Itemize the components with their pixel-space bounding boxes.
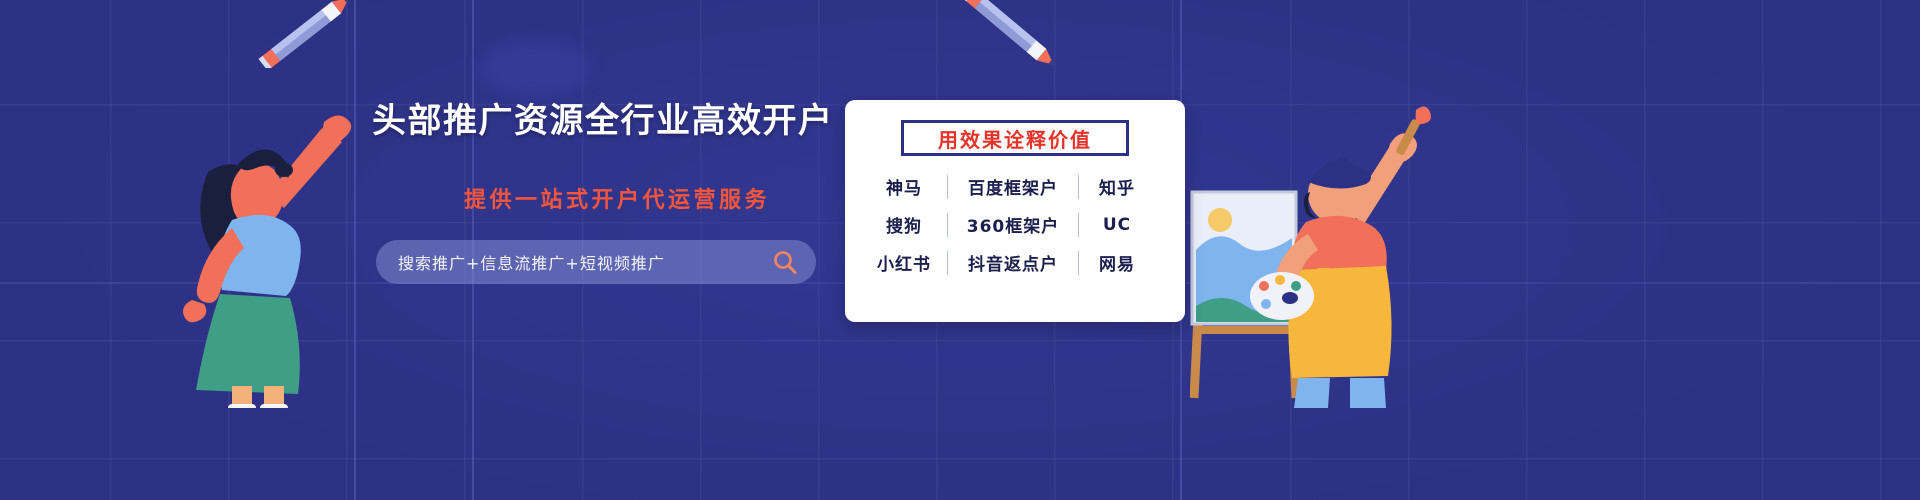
channel-item[interactable]: 360框架户: [967, 212, 1060, 237]
background-blob: [480, 40, 590, 96]
value-card: 用效果诠释价值 神马 百度框架户 知乎 搜狗 360框架户 UC 小红书 抖音返…: [845, 100, 1185, 322]
channel-item[interactable]: 知乎: [1099, 174, 1135, 199]
search-input[interactable]: 搜索推广+信息流推广+短视频推广: [376, 240, 816, 284]
grid-divider: [947, 213, 948, 237]
search-icon[interactable]: [772, 249, 798, 275]
woman-character-illustration: [172, 108, 372, 413]
card-badge-label: 用效果诠释价值: [938, 124, 1092, 153]
channel-item[interactable]: 搜狗: [886, 212, 922, 237]
grid-divider: [947, 175, 948, 199]
subtitle: 提供一站式开户代运营服务: [372, 182, 842, 214]
channel-item[interactable]: 小红书: [877, 250, 931, 275]
pencil-icon: [246, 0, 366, 73]
channel-item[interactable]: 神马: [886, 174, 922, 199]
grid-divider: [947, 251, 948, 275]
pencil-icon: [944, 0, 1074, 73]
painter-character-illustration: [1190, 100, 1450, 415]
card-badge: 用效果诠释价值: [901, 120, 1129, 156]
headline-block: 头部推广资源全行业高效开户 提供一站式开户代运营服务 搜索推广+信息流推广+短视…: [372, 104, 842, 284]
channel-item[interactable]: 百度框架户: [968, 174, 1058, 199]
page-title: 头部推广资源全行业高效开户: [372, 104, 842, 138]
grid-divider: [1078, 251, 1079, 275]
grid-divider: [1078, 175, 1079, 199]
search-query-text: 搜索推广+信息流推广+短视频推广: [398, 250, 762, 274]
channel-item[interactable]: 网易: [1099, 250, 1135, 275]
channel-item[interactable]: 抖音返点户: [968, 250, 1058, 275]
promotional-banner: 头部推广资源全行业高效开户 提供一站式开户代运营服务 搜索推广+信息流推广+短视…: [0, 0, 1920, 500]
grid-divider: [1078, 213, 1079, 237]
channel-grid: 神马 百度框架户 知乎 搜狗 360框架户 UC 小红书 抖音返点户 网易: [861, 174, 1169, 275]
channel-item[interactable]: UC: [1103, 215, 1131, 235]
